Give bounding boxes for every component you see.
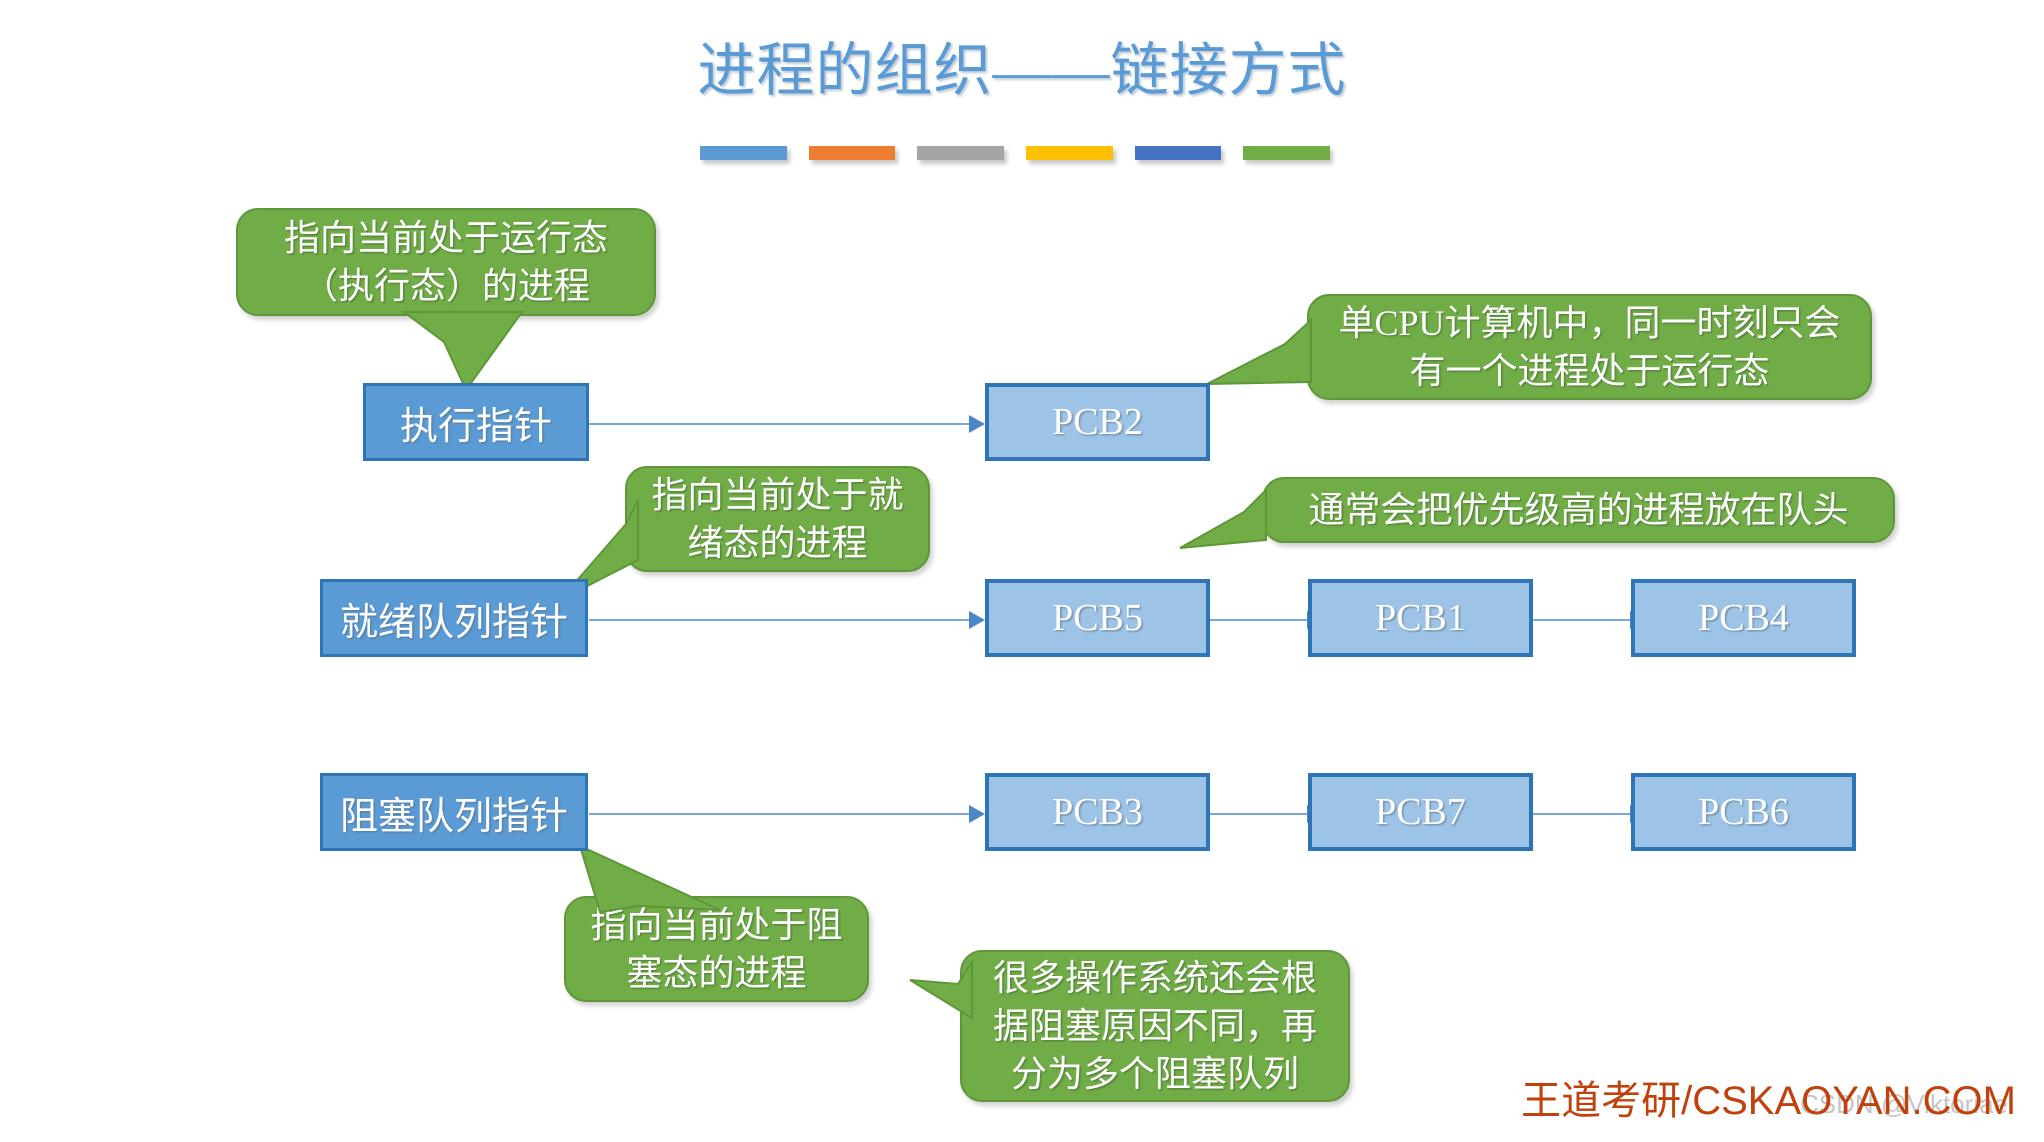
pcb-box-pcb1-label: PCB1 <box>1375 596 1466 640</box>
pointer-box-ready-label: 就绪队列指针 <box>340 591 568 646</box>
accent-bar-yellow <box>1026 146 1113 160</box>
callout-single-cpu-line-1: 单CPU计算机中，同一时刻只会 <box>1338 299 1840 347</box>
callout-single-cpu: 单CPU计算机中，同一时刻只会 有一个进程处于运行态 <box>1307 294 1872 400</box>
arrow-pcb7-to-pcb6 <box>1533 812 1646 816</box>
accent-bar-gray <box>917 146 1004 160</box>
slide-canvas: 进程的组织——链接方式 指向当前处于运行态 （执行态）的进程 单CPU计算机中，… <box>0 0 2044 1142</box>
pcb-box-pcb5[interactable]: PCB5 <box>985 579 1210 657</box>
callout-running-pointer-line-1: 指向当前处于运行态 <box>284 214 608 262</box>
callout-single-cpu-tail <box>1207 320 1327 400</box>
arrow-blocked-to-pcb3 <box>589 812 985 816</box>
pcb-box-pcb3-label: PCB3 <box>1052 790 1143 834</box>
arrow-pcb3-to-pcb7 <box>1210 812 1323 816</box>
callout-running-pointer-tail <box>404 312 544 392</box>
callout-running-pointer: 指向当前处于运行态 （执行态）的进程 <box>236 208 656 316</box>
arrow-pcb5-to-pcb1 <box>1210 618 1323 622</box>
pcb-box-pcb7-label: PCB7 <box>1375 790 1466 834</box>
pcb-box-pcb5-label: PCB5 <box>1052 596 1143 640</box>
pcb-box-pcb2[interactable]: PCB2 <box>985 383 1210 461</box>
callout-ready-pointer-line-2: 绪态的进程 <box>651 519 903 567</box>
pointer-box-blocked[interactable]: 阻塞队列指针 <box>320 773 588 851</box>
callout-priority-head-line-1: 通常会把优先级高的进程放在队头 <box>1308 486 1848 534</box>
callout-running-pointer-line-2: （执行态）的进程 <box>284 262 608 310</box>
pcb-box-pcb2-label: PCB2 <box>1052 400 1143 444</box>
accent-bar-orange <box>809 146 896 160</box>
accent-bar-light-blue <box>700 146 787 160</box>
pointer-box-ready[interactable]: 就绪队列指针 <box>320 579 588 657</box>
accent-bar-dark-blue <box>1135 146 1222 160</box>
arrow-pcb1-to-pcb4 <box>1533 618 1646 622</box>
arrow-running-to-pcb2 <box>589 422 985 426</box>
callout-blocked-pointer-line-2: 塞态的进程 <box>590 949 842 997</box>
arrow-ready-to-pcb5 <box>589 618 985 622</box>
accent-bar-green <box>1243 146 1330 160</box>
page-title: 进程的组织——链接方式 <box>0 36 2044 106</box>
pcb-box-pcb1[interactable]: PCB1 <box>1308 579 1533 657</box>
title-accent-bars <box>700 146 1330 160</box>
pcb-box-pcb6-label: PCB6 <box>1698 790 1789 834</box>
callout-single-cpu-line-2: 有一个进程处于运行态 <box>1338 347 1840 395</box>
pointer-box-running-label: 执行指针 <box>400 395 552 450</box>
pointer-box-running[interactable]: 执行指针 <box>363 383 589 461</box>
callout-multi-blocked-queues: 很多操作系统还会根 据阻塞原因不同，再 分为多个阻塞队列 <box>960 950 1350 1102</box>
callout-priority-head-tail <box>1180 490 1280 570</box>
pcb-box-pcb3[interactable]: PCB3 <box>985 773 1210 851</box>
pcb-box-pcb4[interactable]: PCB4 <box>1631 579 1856 657</box>
callout-multi-blocked-queues-line-3: 分为多个阻塞队列 <box>993 1050 1317 1098</box>
callout-multi-blocked-queues-line-1: 很多操作系统还会根 <box>993 954 1317 1002</box>
pcb-box-pcb6[interactable]: PCB6 <box>1631 773 1856 851</box>
callout-multi-blocked-queues-tail <box>910 962 990 1032</box>
brand-watermark: 王道考研/CSKAOYAN.COM <box>1521 1068 2016 1126</box>
callout-multi-blocked-queues-line-2: 据阻塞原因不同，再 <box>993 1002 1317 1050</box>
pcb-box-pcb4-label: PCB4 <box>1698 596 1789 640</box>
callout-ready-pointer-line-1: 指向当前处于就 <box>651 471 903 519</box>
callout-blocked-pointer-tail <box>580 846 740 916</box>
pcb-box-pcb7[interactable]: PCB7 <box>1308 773 1533 851</box>
callout-priority-head: 通常会把优先级高的进程放在队头 <box>1262 477 1895 543</box>
pointer-box-blocked-label: 阻塞队列指针 <box>340 785 568 840</box>
